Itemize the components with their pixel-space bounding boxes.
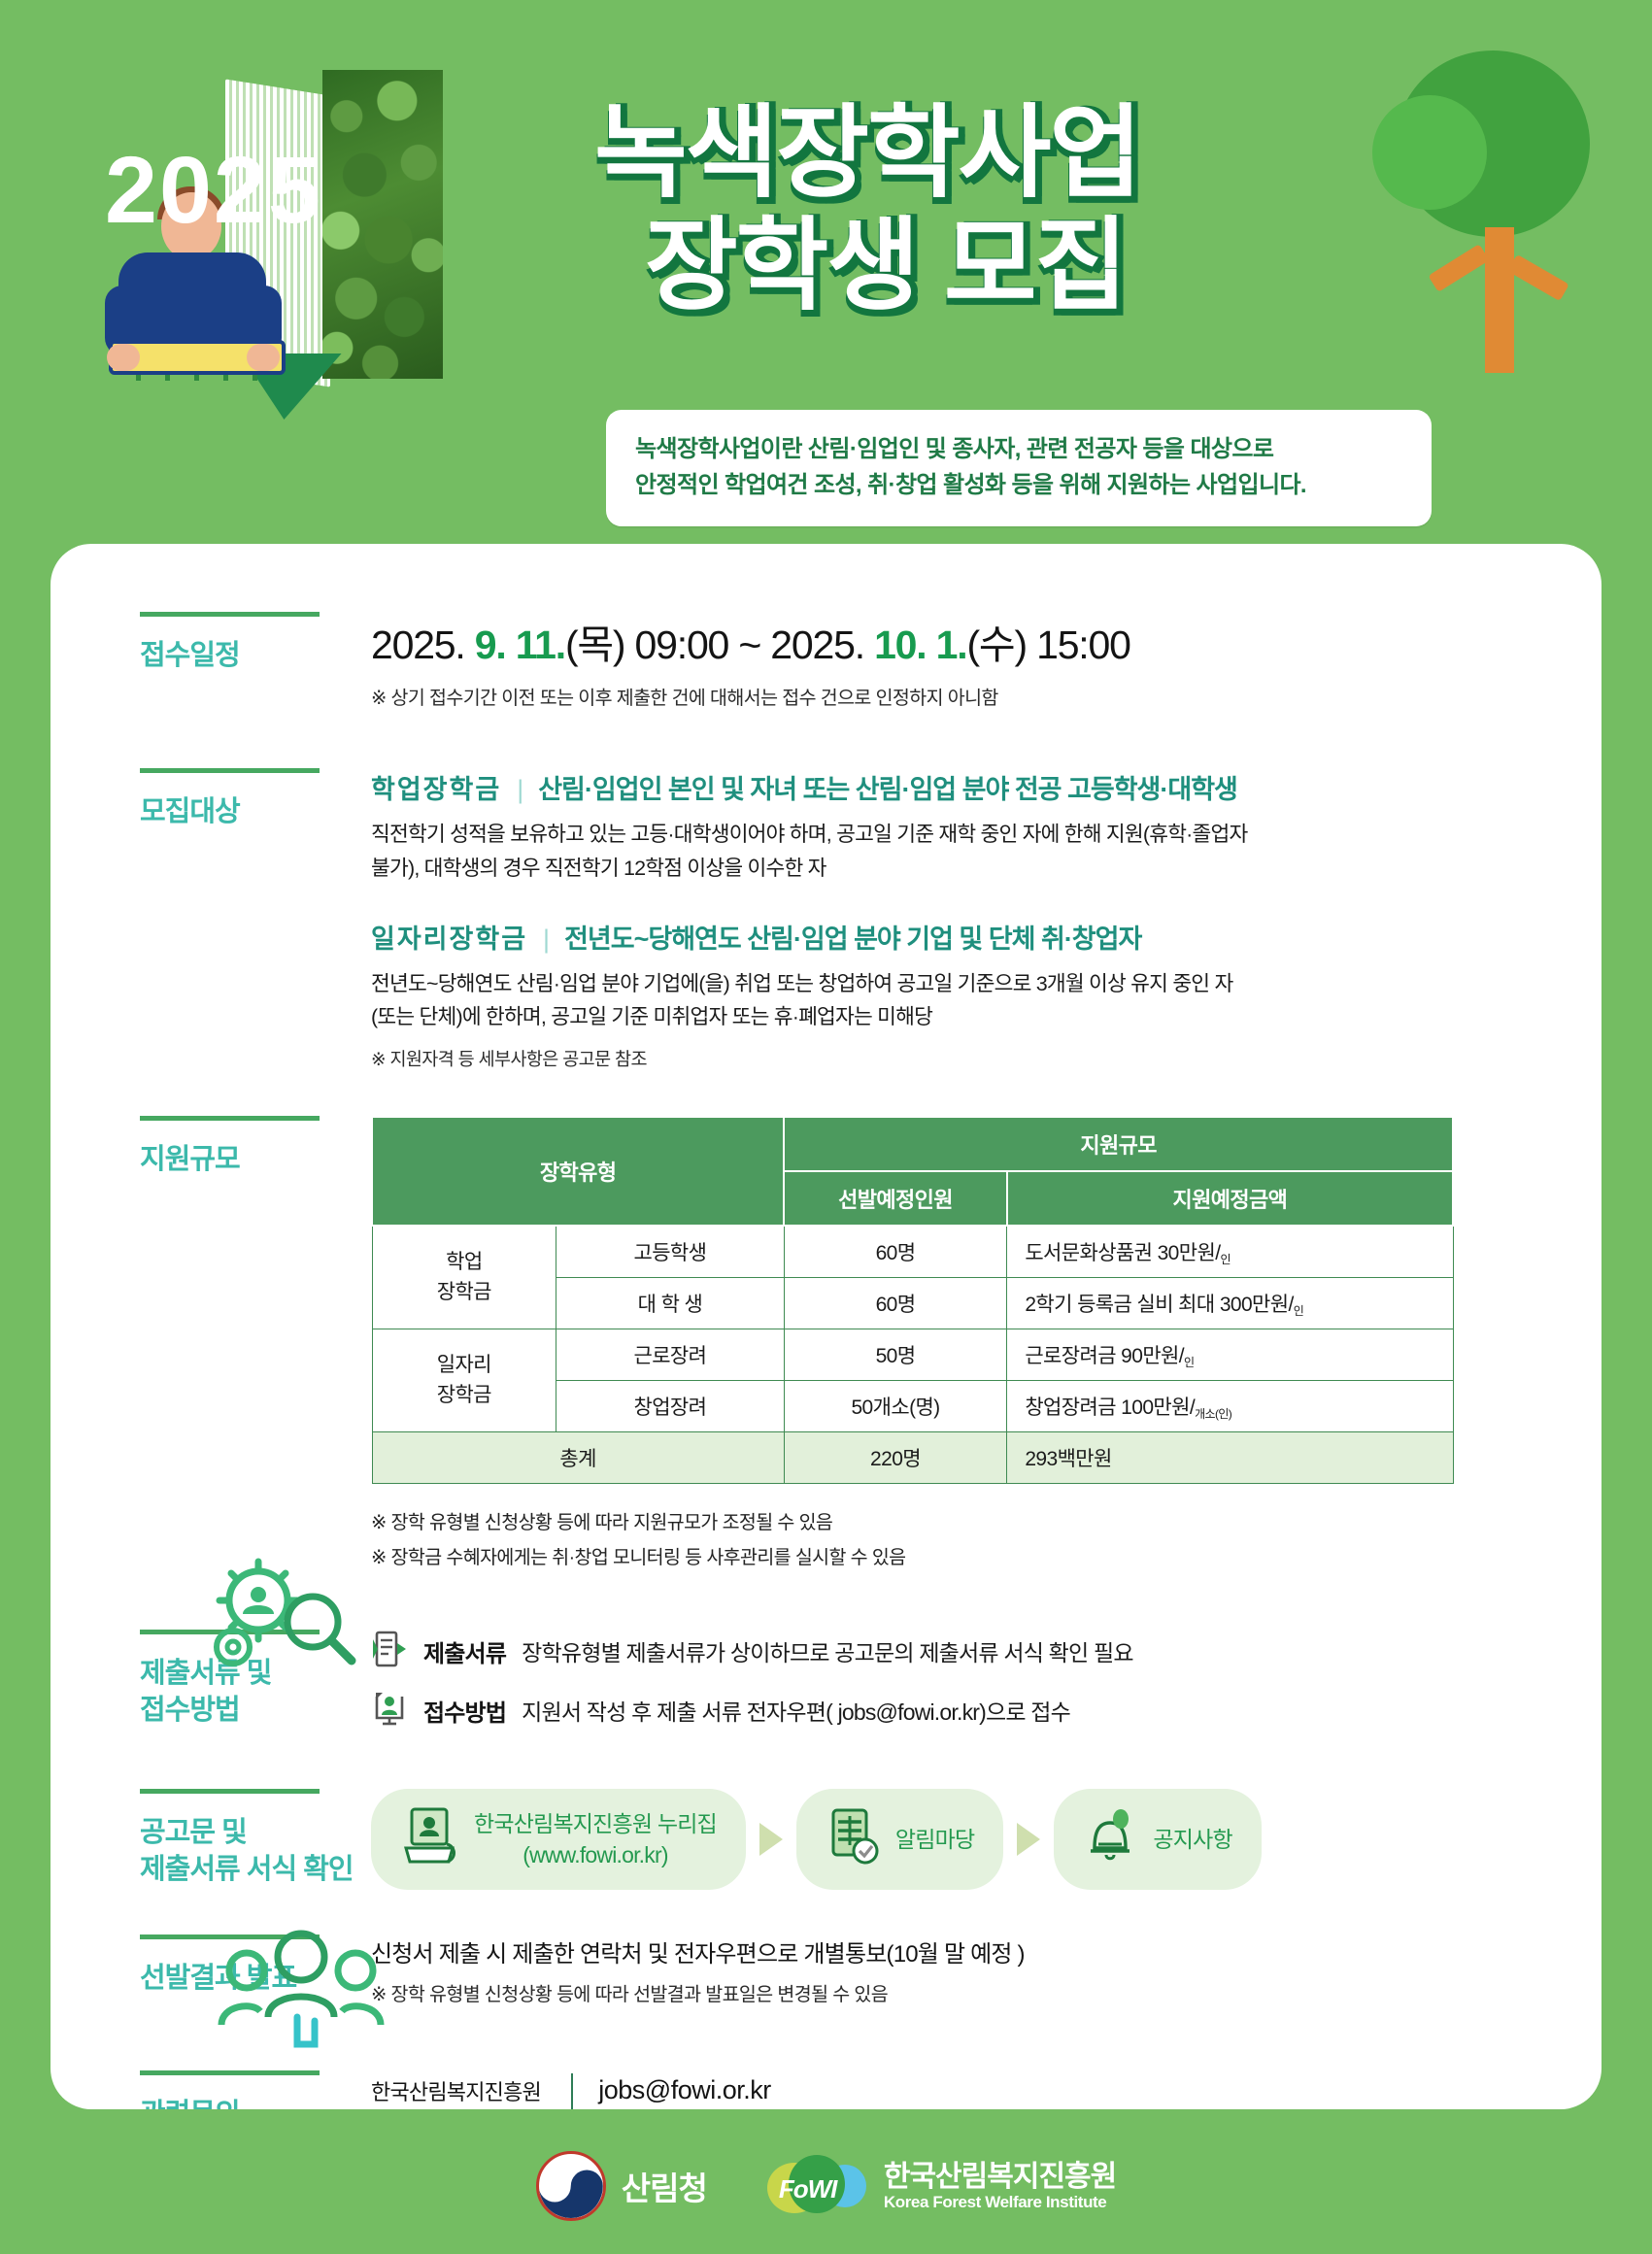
kind-work-incentive: 근로장려 bbox=[556, 1329, 785, 1380]
section-body-target: 학업장학금 | 산림·임업인 본인 및 자녀 또는 산림·임업 분야 전공 고등… bbox=[371, 768, 1601, 1071]
pill-notice-board[interactable]: 알림마당 bbox=[796, 1789, 1003, 1890]
kind-university: 대 학 생 bbox=[556, 1277, 785, 1329]
chevron-right-icon-2 bbox=[1017, 1823, 1040, 1856]
main-content-card: 접수일정 2025. 9. 11.(목) 09:00 ~ 2025. 10. 1… bbox=[51, 544, 1601, 2109]
count-startup-incentive: 50개소(명) bbox=[784, 1380, 1007, 1431]
divider: | bbox=[517, 775, 523, 805]
table-total-row: 총계 220명 293백만원 bbox=[372, 1431, 1453, 1483]
section-label-notice: 공고문 및 제출서류 서식 확인 bbox=[51, 1789, 371, 1890]
application-period: 2025. 9. 11.(목) 09:00 ~ 2025. 10. 1.(수) … bbox=[371, 612, 1543, 670]
fowi-name-en: Korea Forest Welfare Institute bbox=[884, 2193, 1116, 2212]
label-line-1: 공고문 및 bbox=[140, 1817, 247, 1848]
contact-organization: 한국산림복지진흥원 녹색장학사업 담당자 bbox=[371, 2076, 546, 2109]
pill-announcements-line-1: 공지사항 bbox=[1153, 1827, 1231, 1852]
kind-startup-incentive: 창업장려 bbox=[556, 1380, 785, 1431]
label-line-2: 제출서류 서식 확인 bbox=[140, 1854, 354, 1885]
documents-row: 제출서류 장학유형별 제출서류가 상이하므로 공고문의 제출서류 서식 확인 필… bbox=[371, 1630, 1543, 1673]
amount-university: 2학기 등록금 실비 최대 300만원/인 bbox=[1007, 1277, 1453, 1329]
section-label-schedule: 접수일정 bbox=[51, 612, 371, 714]
scale-notes: ※ 장학 유형별 신청상황 등에 따라 지원규모가 조정될 수 있음 ※ 장학금… bbox=[371, 1505, 1543, 1575]
section-body-contact: 한국산림복지진흥원 녹색장학사업 담당자 jobs@fowi.or.kr 042… bbox=[371, 2070, 1601, 2109]
forest-service-name: 산림청 bbox=[622, 2163, 707, 2209]
date-middle: (목) 09:00 ~ 2025. bbox=[565, 622, 874, 667]
pill-website-line-2: (www.fowi.or.kr) bbox=[474, 1839, 717, 1870]
amount-startup-incentive: 창업장려금 100만원/개소(인) bbox=[1007, 1380, 1453, 1431]
bell-icon bbox=[1083, 1807, 1137, 1870]
table-row: 학업장학금 고등학생 60명 도서문화상품권 30만원/인 bbox=[372, 1226, 1453, 1278]
submission-label: 접수방법 bbox=[423, 1694, 506, 1728]
label-rule bbox=[140, 1116, 320, 1121]
pill-website-line-1: 한국산림복지진흥원 누리집 bbox=[474, 1811, 717, 1836]
table-row: 일자리장학금 근로장려 50명 근로장려금 90만원/인 bbox=[372, 1329, 1453, 1380]
count-high-school: 60명 bbox=[784, 1226, 1007, 1278]
date-suffix: (수) 15:00 bbox=[966, 622, 1129, 667]
contact-divider bbox=[571, 2073, 573, 2109]
group-job: 일자리장학금 bbox=[372, 1329, 556, 1431]
academic-scholarship-name: 학업장학금 bbox=[371, 768, 501, 806]
person-right-hand bbox=[247, 344, 280, 371]
amount-unit: 개소(인) bbox=[1195, 1407, 1231, 1421]
total-count: 220명 bbox=[784, 1431, 1007, 1483]
pill-announcements[interactable]: 공지사항 bbox=[1054, 1789, 1261, 1890]
documents-label: 제출서류 bbox=[423, 1634, 506, 1668]
amount-text: 근로장려금 90만원/ bbox=[1025, 1345, 1184, 1367]
person-left-hand bbox=[107, 344, 140, 371]
chevron-right-icon-1 bbox=[759, 1823, 783, 1856]
upload-person-icon bbox=[371, 1689, 408, 1733]
academic-body-line-1: 직전학기 성적을 보유하고 있는 고등·대학생이어야 하며, 공고일 기준 재학… bbox=[371, 818, 1543, 851]
academic-body: 직전학기 성적을 보유하고 있는 고등·대학생이어야 하며, 공고일 기준 재학… bbox=[371, 818, 1543, 885]
tree-trunk bbox=[1485, 227, 1514, 373]
academic-scholarship-heading: 학업장학금 | 산림·임업인 본인 및 자녀 또는 산림·임업 분야 전공 고등… bbox=[371, 768, 1543, 806]
label-text: 관련문의 bbox=[140, 2096, 371, 2109]
poster-footer: 산림청 FoWI 한국산림복지진흥원 Korea Forest Welfare … bbox=[0, 2151, 1652, 2221]
total-amount: 293백만원 bbox=[1007, 1431, 1453, 1483]
label-line-2: 접수방법 bbox=[140, 1695, 240, 1726]
submission-value: 지원서 작성 후 제출 서류 전자우편( jobs@fowi.or.kr)으로 … bbox=[522, 1694, 1070, 1727]
count-work-incentive: 50명 bbox=[784, 1329, 1007, 1380]
section-scale: 지원규모 장학유형 지원규모 선발예정인원 지원예정금액 학업장학금 bbox=[51, 1116, 1601, 1575]
fowi-wordmark: FoWI bbox=[779, 2174, 837, 2204]
fowi-mark-icon: FoWI bbox=[767, 2155, 868, 2217]
pill-announcements-text: 공지사항 bbox=[1153, 1824, 1231, 1855]
contact-details: jobs@fowi.or.kr 042-719-4315(또는 4346) bbox=[598, 2070, 883, 2109]
amount-unit: 인 bbox=[1184, 1356, 1194, 1369]
contact-email[interactable]: jobs@fowi.or.kr bbox=[598, 2070, 883, 2109]
submission-row: 접수방법 지원서 작성 후 제출 서류 전자우편( jobs@fowi.or.k… bbox=[371, 1689, 1543, 1733]
count-university: 60명 bbox=[784, 1277, 1007, 1329]
gears-magnifier-illustration bbox=[204, 1554, 369, 1690]
pill-notice-board-text: 알림마당 bbox=[895, 1824, 974, 1855]
academic-scholarship-desc: 산림·임업인 본인 및 자녀 또는 산림·임업 분야 전공 고등학생·대학생 bbox=[538, 768, 1237, 806]
section-schedule: 접수일정 2025. 9. 11.(목) 09:00 ~ 2025. 10. 1… bbox=[51, 612, 1601, 714]
fowi-logo: FoWI 한국산림복지진흥원 Korea Forest Welfare Inst… bbox=[767, 2155, 1116, 2217]
pill-website-text: 한국산림복지진흥원 누리집 (www.fowi.or.kr) bbox=[474, 1808, 717, 1870]
section-label-target: 모집대상 bbox=[51, 768, 371, 1071]
amount-text: 창업장려금 100만원/ bbox=[1025, 1396, 1195, 1419]
job-body-line-2: (또는 단체)에 한하며, 공고일 기준 미취업자 또는 휴·폐업자는 미해당 bbox=[371, 1000, 1543, 1033]
table-head: 장학유형 지원규모 선발예정인원 지원예정금액 bbox=[372, 1117, 1453, 1226]
laptop-icon bbox=[400, 1805, 458, 1872]
scale-note-2: ※ 장학금 수혜자에게는 취·창업 모니터링 등 사후관리를 실시할 수 있음 bbox=[371, 1540, 1543, 1575]
label-text: 모집대상 bbox=[140, 793, 371, 830]
fowi-name-block: 한국산림복지진흥원 Korea Forest Welfare Institute bbox=[884, 2161, 1116, 2212]
date-day-1: 11. bbox=[516, 622, 565, 667]
total-label: 총계 bbox=[372, 1431, 784, 1483]
title-line-1: 녹색장학사업 bbox=[594, 97, 1140, 210]
section-contact: 관련문의 한국산림복지진흥원 녹색장학사업 담당자 jobs@fowi.or.k… bbox=[51, 2070, 1601, 2109]
amount-unit: 인 bbox=[1294, 1304, 1303, 1318]
navigation-path: 한국산림복지진흥원 누리집 (www.fowi.or.kr) 알림마당 bbox=[371, 1789, 1543, 1890]
result-announcement: 신청서 제출 시 제출한 연락처 및 전자우편으로 개별통보(10월 말 예정 … bbox=[371, 1934, 1543, 1968]
label-rule bbox=[140, 768, 320, 773]
kind-high-school: 고등학생 bbox=[556, 1226, 785, 1278]
label-rule bbox=[140, 612, 320, 617]
amount-text: 2학기 등록금 실비 최대 300만원/ bbox=[1025, 1294, 1293, 1316]
th-support-scale: 지원규모 bbox=[784, 1117, 1453, 1171]
section-body-schedule: 2025. 9. 11.(목) 09:00 ~ 2025. 10. 1.(수) … bbox=[371, 612, 1601, 714]
job-scholarship-name: 일자리장학금 bbox=[371, 918, 527, 956]
academic-body-line-2: 불가), 대학생의 경우 직전학기 12학점 이상을 이수한 자 bbox=[371, 852, 1543, 885]
section-body-documents: 제출서류 장학유형별 제출서류가 상이하므로 공고문의 제출서류 서식 확인 필… bbox=[371, 1630, 1601, 1748]
date-prefix: 2025. bbox=[371, 622, 475, 667]
job-scholarship-heading: 일자리장학금 | 전년도~당해연도 산림·임업 분야 기업 및 단체 취·창업자 bbox=[371, 918, 1543, 956]
date-day-2: 1. bbox=[936, 622, 967, 667]
contact-block: 한국산림복지진흥원 녹색장학사업 담당자 jobs@fowi.or.kr 042… bbox=[371, 2070, 1543, 2109]
taegeuk-icon bbox=[536, 2151, 606, 2221]
fowi-name-kr: 한국산림복지진흥원 bbox=[884, 2161, 1116, 2193]
result-note: ※ 장학 유형별 신청상황 등에 따라 선발결과 발표일은 변경될 수 있음 bbox=[371, 1980, 1543, 2010]
schedule-note: ※ 상기 접수기간 이전 또는 이후 제출한 건에 대해서는 접수 건으로 인정… bbox=[371, 684, 1543, 714]
group-academic: 학업장학금 bbox=[372, 1226, 556, 1329]
table-header-row-1: 장학유형 지원규모 bbox=[372, 1117, 1453, 1171]
job-scholarship-desc: 전년도~당해연도 산림·임업 분야 기업 및 단체 취·창업자 bbox=[564, 918, 1141, 956]
amount-high-school: 도서문화상품권 30만원/인 bbox=[1007, 1226, 1453, 1278]
poster-title: 녹색장학사업 장학생 모집 bbox=[594, 97, 1140, 323]
spacer bbox=[371, 885, 1543, 918]
support-scale-table: 장학유형 지원규모 선발예정인원 지원예정금액 학업장학금 고등학생 60명 도… bbox=[371, 1116, 1454, 1484]
section-body-notice: 한국산림복지진흥원 누리집 (www.fowi.or.kr) 알림마당 bbox=[371, 1789, 1601, 1890]
document-icon bbox=[371, 1630, 408, 1673]
job-body: 전년도~당해연도 산림·임업 분야 기업에(을) 취업 또는 창업하여 공고일 … bbox=[371, 967, 1543, 1034]
table-body: 학업장학금 고등학생 60명 도서문화상품권 30만원/인 대 학 생 60명 … bbox=[372, 1226, 1453, 1484]
poster-header: 2025 녹색장학사업 장학생 모집 녹색장학사업이 bbox=[0, 0, 1652, 573]
tree-branch-right bbox=[1507, 254, 1569, 301]
date-month-2: 10. bbox=[874, 622, 936, 667]
scale-note-1: ※ 장학 유형별 신청상황 등에 따라 지원규모가 조정될 수 있음 bbox=[371, 1505, 1543, 1540]
job-body-line-1: 전년도~당해연도 산림·임업 분야 기업에(을) 취업 또는 창업하여 공고일 … bbox=[371, 967, 1543, 1000]
lead-line-2: 안정적인 학업여건 조성, 취·창업 활성화 등을 위해 지원하는 사업입니다. bbox=[635, 467, 1402, 503]
section-body-result: 신청서 제출 시 제출한 연락처 및 전자우편으로 개별통보(10월 말 예정 … bbox=[371, 1934, 1601, 2010]
people-group-illustration bbox=[214, 1928, 388, 2054]
label-rule bbox=[140, 1789, 320, 1794]
pill-notice-board-line-1: 알림마당 bbox=[895, 1827, 974, 1852]
th-planned-amount: 지원예정금액 bbox=[1007, 1171, 1453, 1226]
section-notice: 공고문 및 제출서류 서식 확인 한국산림복지진흥원 누리집 (www.fowi… bbox=[51, 1789, 1601, 1890]
tree-crown-small bbox=[1372, 95, 1487, 210]
contact-org-line-1: 한국산림복지진흥원 bbox=[371, 2076, 546, 2109]
tree-branch-left bbox=[1428, 244, 1489, 292]
title-line-2: 장학생 모집 bbox=[645, 210, 1140, 322]
section-body-scale: 장학유형 지원규모 선발예정인원 지원예정금액 학업장학금 고등학생 60명 도… bbox=[371, 1116, 1601, 1575]
document-check-icon bbox=[826, 1806, 880, 1871]
section-target: 모집대상 학업장학금 | 산림·임업인 본인 및 자녀 또는 산림·임업 분야 … bbox=[51, 768, 1601, 1071]
section-label-contact: 관련문의 bbox=[51, 2070, 371, 2109]
lead-description-box: 녹색장학사업이란 산림·임업인 및 종사자, 관련 전공자 등을 대상으로 안정… bbox=[606, 410, 1432, 526]
date-month-1: 9. bbox=[475, 622, 516, 667]
target-note: ※ 지원자격 등 세부사항은 공고문 참조 bbox=[371, 1046, 1543, 1071]
divider: | bbox=[543, 925, 549, 955]
label-text: 접수일정 bbox=[140, 637, 371, 674]
tree-illustration bbox=[1365, 50, 1607, 400]
label-text: 공고문 및 제출서류 서식 확인 bbox=[140, 1814, 371, 1889]
documents-value: 장학유형별 제출서류가 상이하므로 공고문의 제출서류 서식 확인 필요 bbox=[522, 1634, 1133, 1667]
amount-work-incentive: 근로장려금 90만원/인 bbox=[1007, 1329, 1453, 1380]
taegeuk-blue-half bbox=[539, 2154, 603, 2218]
year-label: 2025 bbox=[105, 136, 322, 245]
label-text: 지원규모 bbox=[140, 1141, 371, 1178]
amount-unit: 인 bbox=[1220, 1253, 1230, 1266]
forest-photo bbox=[322, 70, 443, 379]
th-planned-count: 선발예정인원 bbox=[784, 1171, 1007, 1226]
amount-text: 도서문화상품권 30만원/ bbox=[1025, 1242, 1220, 1264]
pill-website[interactable]: 한국산림복지진흥원 누리집 (www.fowi.or.kr) bbox=[371, 1789, 746, 1890]
lead-line-1: 녹색장학사업이란 산림·임업인 및 종사자, 관련 전공자 등을 대상으로 bbox=[635, 431, 1402, 467]
label-rule bbox=[140, 2070, 320, 2075]
th-scholarship-type: 장학유형 bbox=[372, 1117, 784, 1226]
section-label-scale: 지원규모 bbox=[51, 1116, 371, 1575]
forest-service-logo: 산림청 bbox=[536, 2151, 707, 2221]
